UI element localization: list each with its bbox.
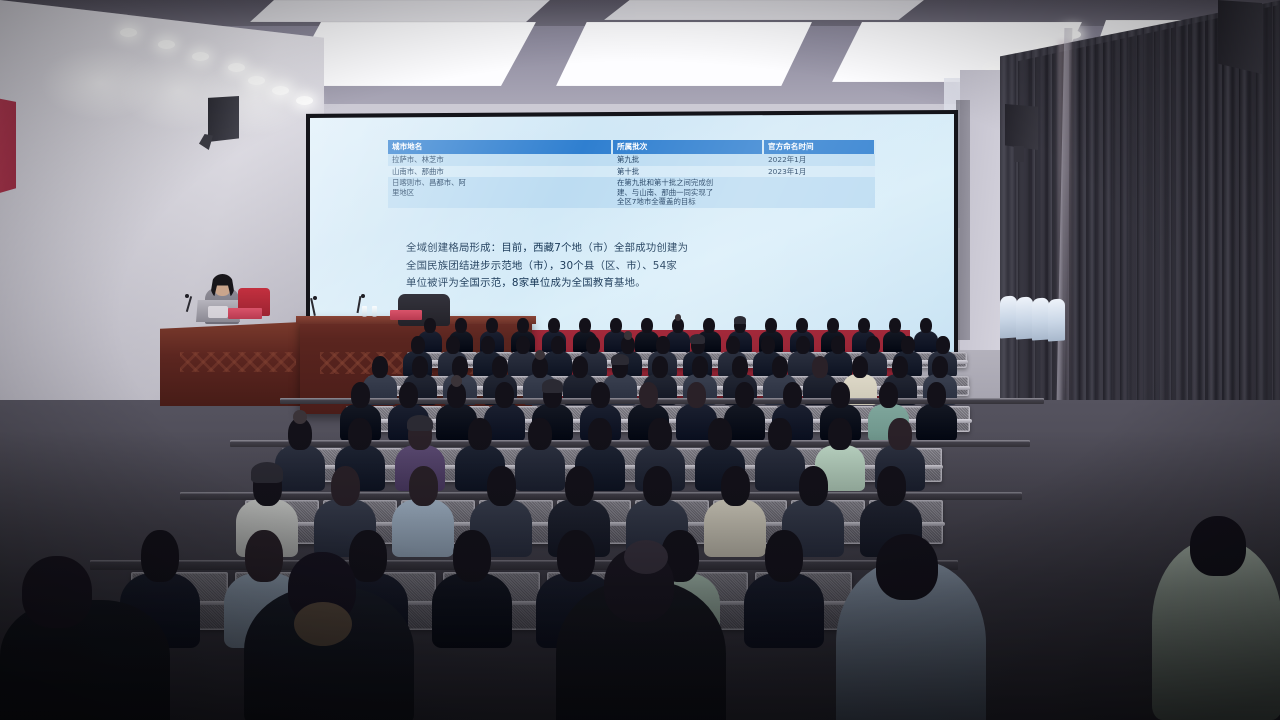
microphone-head [361, 294, 365, 298]
audience-person-torso [515, 445, 565, 491]
audience-person-head [586, 336, 600, 354]
audience-person-head-foreground [1190, 516, 1246, 576]
audience-person-head [768, 418, 791, 450]
side-door [956, 100, 970, 340]
recessed-downlight [272, 86, 289, 95]
speaker-mount-bracket [1014, 146, 1024, 162]
audience-person-head [409, 466, 438, 506]
audience-person-head [708, 418, 731, 450]
audience-person-head [548, 318, 560, 333]
audience-desk [90, 560, 958, 570]
water-bottle [372, 306, 377, 317]
laptop-screen-back [208, 306, 228, 318]
audience-person-head [572, 356, 588, 378]
audience-person-head [920, 318, 932, 333]
audience-person-head [927, 382, 946, 408]
audience-person-head [424, 318, 436, 333]
audience-person-head [551, 336, 565, 354]
audience-person-head [877, 466, 906, 506]
audience-person-head [528, 418, 551, 450]
audience-person-head [687, 382, 706, 408]
audience-person-head [481, 336, 495, 354]
audience-person-head-foreground [876, 534, 938, 600]
audience-person-head [735, 382, 754, 408]
audience-person-head [765, 530, 802, 582]
red-wall-banner [0, 98, 16, 194]
audience-person-head [656, 336, 670, 354]
recessed-downlight [296, 96, 313, 105]
audience-person-head [652, 356, 668, 378]
audience-person-head [892, 356, 908, 378]
microphone-head [313, 296, 317, 300]
audience-person-head [732, 356, 748, 378]
audience-person-head-foreground [22, 556, 92, 628]
audience-person-head [888, 418, 911, 450]
audience-person-head [703, 318, 715, 333]
table-nameplate [228, 308, 262, 319]
audience-hair-bun [535, 350, 545, 360]
wall-speaker-right [1005, 104, 1038, 150]
audience-person-head [351, 382, 370, 408]
wall-speaker-right-upper [1218, 0, 1262, 74]
audience-person-head [641, 318, 653, 333]
audience-person-head [901, 336, 915, 354]
recessed-downlight [248, 76, 265, 85]
draped-chair [1000, 295, 1017, 338]
audience-person-head [348, 418, 371, 450]
audience-person-head [517, 318, 529, 333]
audience-person-head [492, 356, 508, 378]
audience-person-head [721, 466, 750, 506]
audience-person-head [783, 382, 802, 408]
audience-person-head [827, 318, 839, 333]
audience-person-head [452, 356, 468, 378]
audience-person-head [831, 382, 850, 408]
audience-cap [251, 462, 283, 483]
draped-chair [1016, 296, 1033, 339]
audience-person-head [372, 356, 388, 378]
draped-chair [1048, 298, 1065, 341]
recessed-downlight [120, 28, 137, 37]
audience-person-torso [914, 331, 939, 354]
ceiling-light-panel [250, 0, 550, 22]
audience-person-head [516, 336, 530, 354]
audience-person-head [487, 466, 516, 506]
audience-person-head [831, 336, 845, 354]
audience-person-head [765, 318, 777, 333]
audience-person-head [141, 530, 178, 582]
audience-person-head [796, 336, 810, 354]
audience-person-torso [755, 445, 805, 491]
audience-person-head [639, 382, 658, 408]
audience-person-head [726, 336, 740, 354]
microphone-head [185, 294, 189, 298]
audience-person-head [468, 418, 491, 450]
audience-person-head [486, 318, 498, 333]
water-bottle [362, 306, 367, 317]
audience-person-head [455, 318, 467, 333]
audience-person-torso [392, 499, 454, 557]
ceiling-light-panel [556, 22, 812, 86]
audience-person-head [879, 382, 898, 408]
audience-person-torso [916, 404, 956, 442]
lecture-hall-photo: 城市地名 所属批次 官方命名时间 拉萨市、林芝市 第九批 2022年1月 山南市… [0, 0, 1280, 720]
podium-panel-pattern [180, 352, 296, 372]
audience-person-head [889, 318, 901, 333]
audience-person-torso [275, 445, 325, 491]
audience-person-torso [432, 573, 513, 648]
audience-cap [734, 316, 747, 324]
audience-person-head [399, 382, 418, 408]
audience-person-head [579, 318, 591, 333]
wall-speaker-left [208, 96, 239, 142]
audience-cap [407, 415, 433, 432]
audience-person-head [349, 530, 386, 582]
audience-person-head [852, 356, 868, 378]
audience-person-head [610, 318, 622, 333]
audience-person-torso [704, 499, 766, 557]
audience-person-head [565, 466, 594, 506]
audience-person-head [331, 466, 360, 506]
audience-person-head [761, 336, 775, 354]
recessed-downlight [228, 63, 245, 72]
audience-person-head [828, 418, 851, 450]
audience-person-head [245, 530, 282, 582]
audience-person-head [799, 466, 828, 506]
audience-person-torso-foreground [0, 600, 170, 720]
audience-person-head [648, 418, 671, 450]
audience-person-head [453, 530, 490, 582]
audience-hair-bun-foreground [294, 602, 352, 646]
audience-person-head [858, 318, 870, 333]
audience-person-head [643, 466, 672, 506]
ceiling-light-panel [604, 0, 924, 20]
audience-person-head [812, 356, 828, 378]
table-nameplate [390, 310, 422, 320]
audience-person-head [591, 382, 610, 408]
audience-person-head [772, 356, 788, 378]
recessed-downlight [158, 40, 175, 49]
audience-person-head [936, 336, 950, 354]
audience-person-head [446, 336, 460, 354]
audience-person-head [557, 530, 594, 582]
audience-person-head [495, 382, 514, 408]
audience-person-head [692, 356, 708, 378]
audience-person-head [588, 418, 611, 450]
audience-hair-bun [624, 331, 632, 339]
audience-cap [690, 334, 705, 343]
draped-chair [1032, 297, 1049, 340]
audience-person-head [866, 336, 880, 354]
audience-cap [611, 354, 629, 365]
audience-person-head [412, 356, 428, 378]
audience-person-head [932, 356, 948, 378]
audience-person-torso [744, 573, 825, 648]
audience-cap [542, 379, 563, 392]
audience-person-head [796, 318, 808, 333]
audience-hair-bun [293, 410, 307, 425]
recessed-downlight [192, 52, 209, 61]
audience-person-head [411, 336, 425, 354]
audience-hair-bun-foreground [624, 540, 668, 574]
